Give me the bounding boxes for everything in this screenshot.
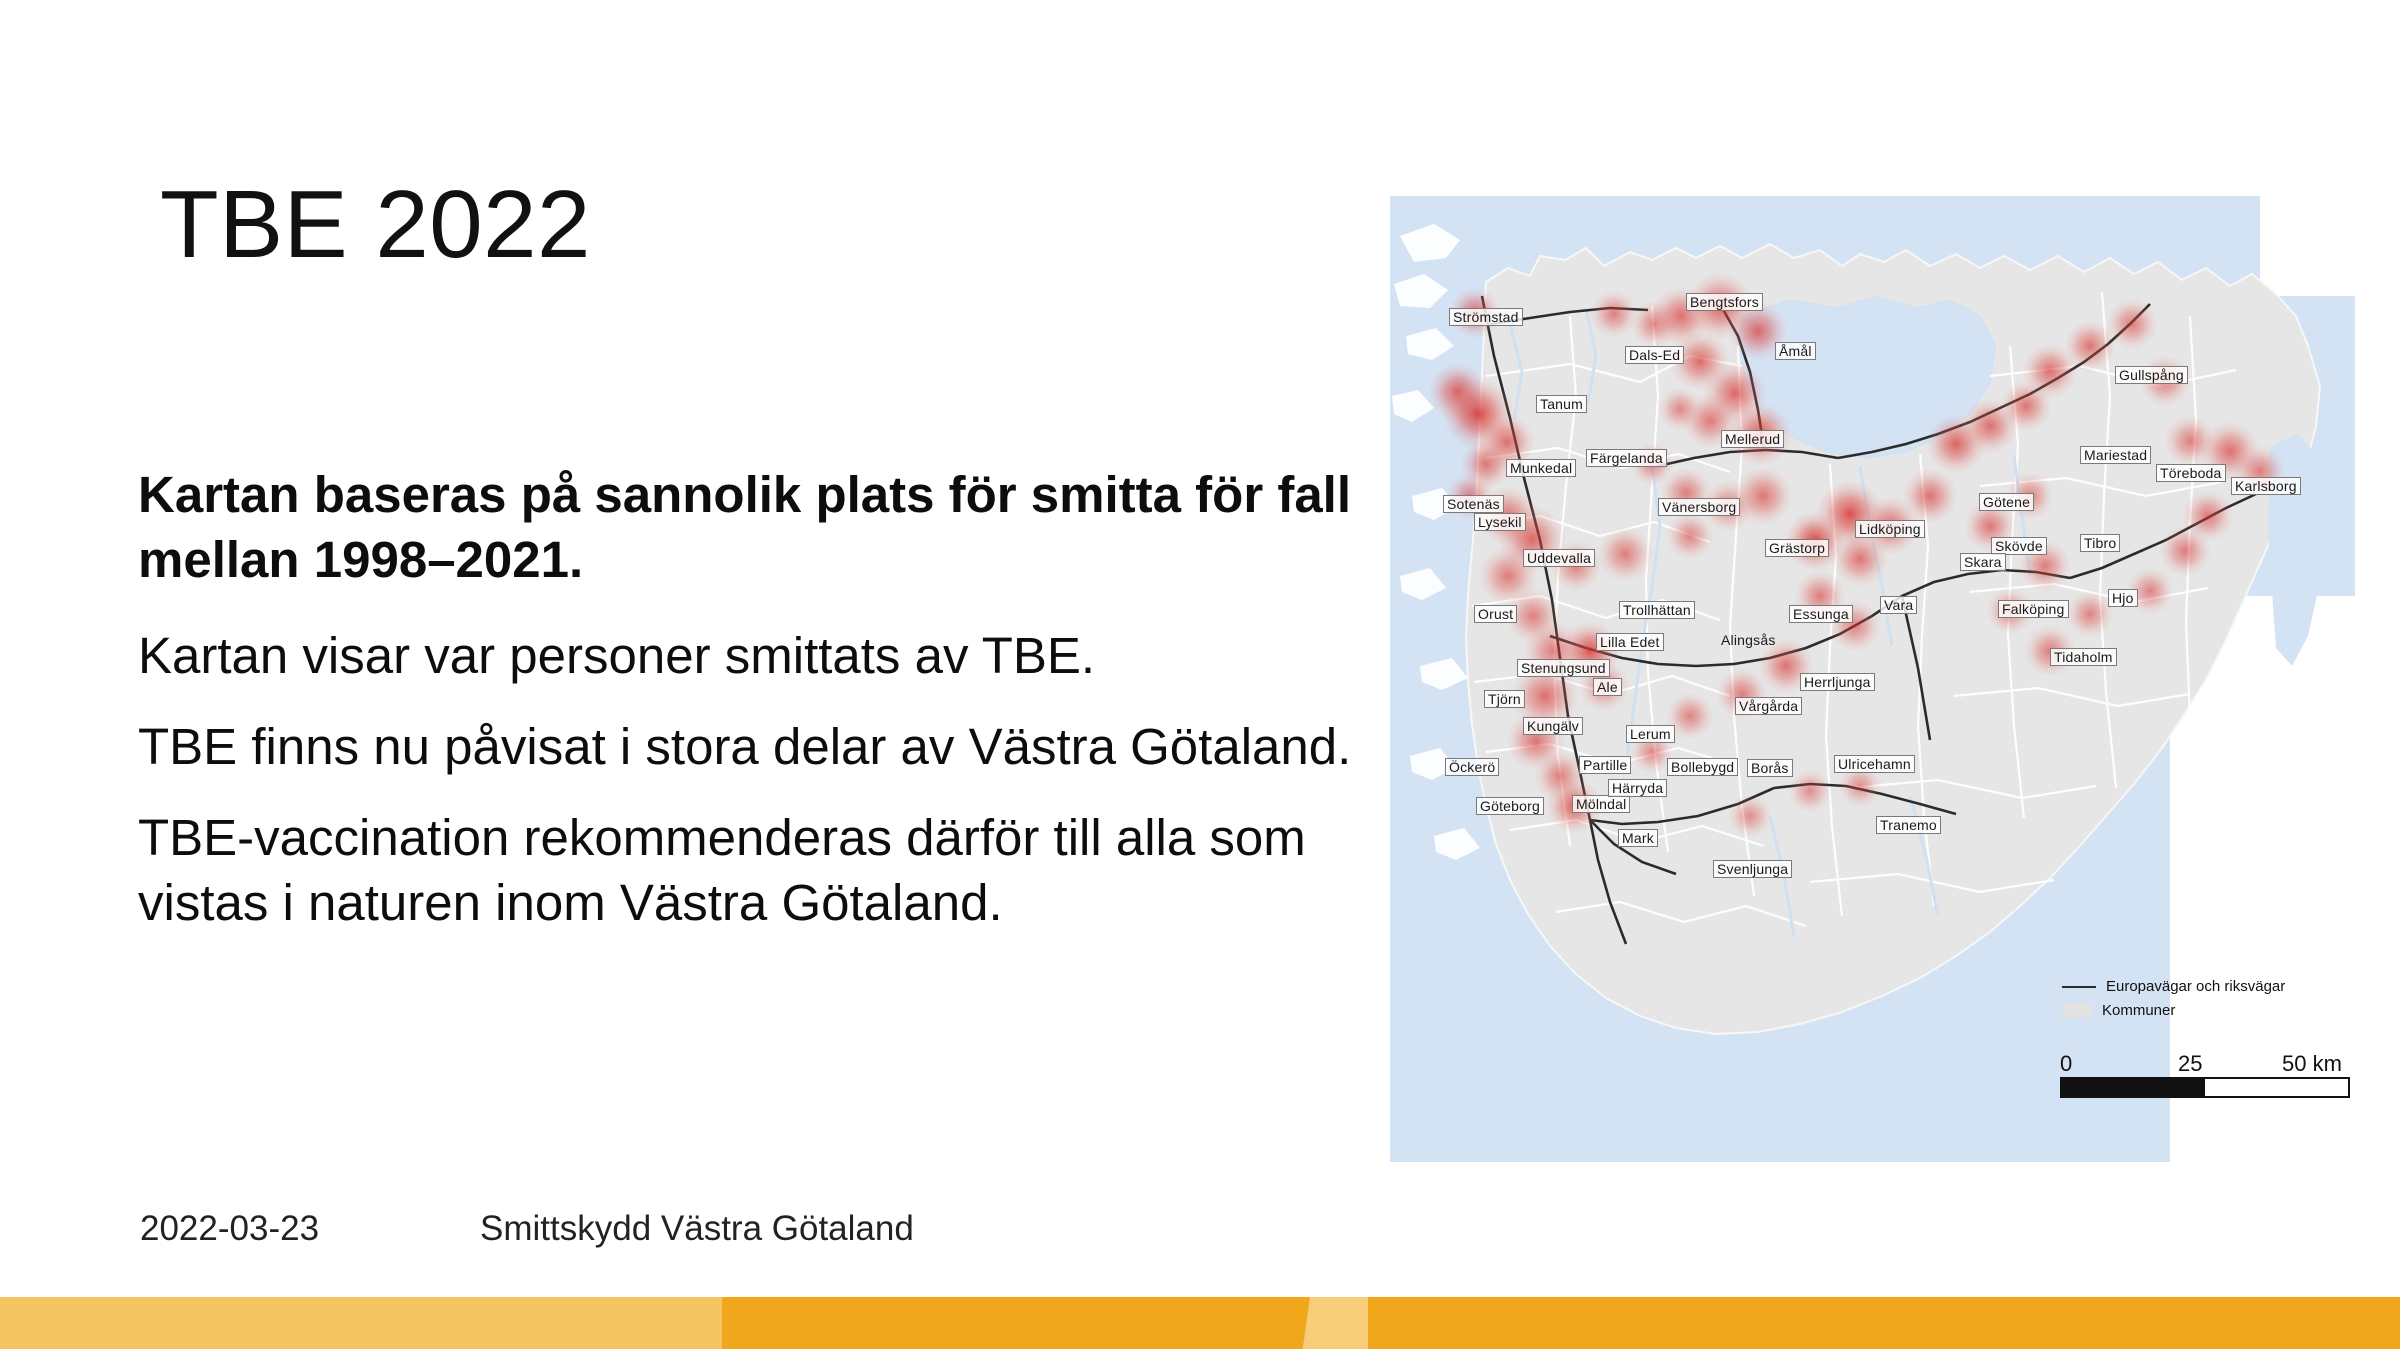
paragraph-3: TBE finns nu påvisat i stora delar av Vä… bbox=[138, 714, 1388, 779]
accent-bar-segment-1 bbox=[0, 1297, 722, 1349]
scale-bar-graphic bbox=[2060, 1077, 2350, 1098]
scale-label-min: 0 bbox=[2060, 1051, 2072, 1077]
scale-segment-2 bbox=[2134, 1079, 2206, 1096]
map-label-gullsp-ng: Gullspång bbox=[2115, 366, 2188, 384]
map-label-lilla-edet: Lilla Edet bbox=[1596, 633, 1664, 651]
map-label-tranemo: Tranemo bbox=[1876, 816, 1941, 834]
legend-row-roads: Europavägar och riksvägar bbox=[2062, 978, 2352, 995]
scale-segment-1 bbox=[2062, 1079, 2134, 1096]
map-label-tibro: Tibro bbox=[2080, 534, 2120, 552]
map-label--m-l: Åmål bbox=[1775, 342, 1816, 360]
bottom-accent-bar bbox=[0, 1297, 2400, 1349]
body-text-block: Kartan baseras på sannolik plats för smi… bbox=[138, 462, 1388, 962]
map-label-lerum: Lerum bbox=[1626, 725, 1675, 743]
map-label-trollh-ttan: Trollhättan bbox=[1619, 601, 1695, 619]
map-label-v-rg-rda: Vårgårda bbox=[1735, 697, 1802, 715]
heat-blob bbox=[1728, 794, 1772, 838]
map-label-mark: Mark bbox=[1618, 829, 1658, 847]
legend-row-municipalities: Kommuner bbox=[2062, 1002, 2352, 1019]
map-label-alings-s: Alingsås bbox=[1718, 632, 1779, 648]
heat-blob bbox=[1788, 769, 1832, 813]
municipality-swatch-icon bbox=[2062, 1003, 2092, 1018]
heat-blob bbox=[2159, 525, 2211, 577]
map-label-tanum: Tanum bbox=[1536, 395, 1587, 413]
scale-segment-4 bbox=[2277, 1079, 2349, 1096]
heat-blob bbox=[2066, 590, 2114, 638]
map-label-herrljunga: Herrljunga bbox=[1800, 673, 1875, 691]
paragraph-4: TBE-vaccination rekommenderas därför til… bbox=[138, 805, 1388, 936]
map-label-lysekil: Lysekil bbox=[1474, 513, 1526, 531]
map-label-munkedal: Munkedal bbox=[1506, 459, 1576, 477]
paragraph-2: Kartan visar var personer smittats av TB… bbox=[138, 623, 1388, 688]
tbe-incidence-map: StrömstadBengtsforsDals-EdÅmålGullspångT… bbox=[1390, 196, 2355, 1162]
map-label-m-lndal: Mölndal bbox=[1572, 795, 1630, 813]
map-label-partille: Partille bbox=[1579, 756, 1631, 774]
map-label-ale: Ale bbox=[1593, 678, 1622, 696]
footer-date: 2022-03-23 bbox=[140, 1209, 319, 1249]
map-label-g-tene: Götene bbox=[1979, 493, 2034, 511]
map-label-kung-lv: Kungälv bbox=[1523, 717, 1583, 735]
heat-blob bbox=[2106, 298, 2158, 350]
heat-blob bbox=[1658, 387, 1702, 431]
map-label-skara: Skara bbox=[1960, 553, 2006, 571]
scale-segment-3 bbox=[2205, 1079, 2277, 1096]
accent-bar-segment-2 bbox=[722, 1297, 1310, 1349]
map-label-essunga: Essunga bbox=[1789, 605, 1853, 623]
heat-blob bbox=[1902, 468, 1958, 524]
map-label-soten-s: Sotenäs bbox=[1443, 495, 1504, 513]
map-label-h-rryda: Härryda bbox=[1608, 779, 1667, 797]
map-label-orust: Orust bbox=[1474, 605, 1517, 623]
map-label-ulricehamn: Ulricehamn bbox=[1834, 755, 1915, 773]
paragraph-lead: Kartan baseras på sannolik plats för smi… bbox=[138, 462, 1388, 593]
heat-blob bbox=[1832, 531, 1888, 587]
map-label-svenljunga: Svenljunga bbox=[1713, 860, 1792, 878]
scale-numbers: 0 25 50 km bbox=[2060, 1051, 2350, 1077]
map-label-t-reboda: Töreboda bbox=[2156, 464, 2226, 482]
map-label-mariestad: Mariestad bbox=[2080, 446, 2151, 464]
map-label-mellerud: Mellerud bbox=[1721, 430, 1784, 448]
map-label-uddevalla: Uddevalla bbox=[1523, 549, 1595, 567]
legend-municipalities-label: Kommuner bbox=[2102, 1002, 2175, 1019]
page-title: TBE 2022 bbox=[160, 175, 591, 276]
map-label--cker-: Öckerö bbox=[1445, 758, 1499, 776]
map-label-falk-ping: Falköping bbox=[1998, 600, 2069, 618]
map-label-vara: Vara bbox=[1880, 596, 1917, 614]
map-label-tj-rn: Tjörn bbox=[1484, 690, 1525, 708]
heat-blob bbox=[1733, 466, 1793, 526]
accent-bar-segment-4 bbox=[1368, 1297, 2400, 1349]
map-label-f-rgelanda: Färgelanda bbox=[1586, 449, 1667, 467]
map-label-dals-ed: Dals-Ed bbox=[1625, 346, 1684, 364]
road-line-icon bbox=[2062, 986, 2096, 988]
map-label-str-mstad: Strömstad bbox=[1449, 308, 1523, 326]
scale-label-mid: 25 bbox=[2178, 1051, 2202, 1077]
map-label-karlsborg: Karlsborg bbox=[2231, 477, 2301, 495]
heat-blob bbox=[1590, 290, 1638, 338]
map-label-g-teborg: Göteborg bbox=[1476, 797, 1544, 815]
map-label-bengtsfors: Bengtsfors bbox=[1686, 293, 1763, 311]
heat-blob bbox=[1666, 512, 1714, 560]
map-scale-bar: 0 25 50 km bbox=[2060, 1051, 2350, 1098]
map-legend: Europavägar och riksvägar Kommuner bbox=[2062, 978, 2352, 1026]
scale-label-max: 50 km bbox=[2282, 1051, 2342, 1077]
map-label-hjo: Hjo bbox=[2108, 589, 2138, 607]
map-label-gr-storp: Grästorp bbox=[1765, 539, 1829, 557]
map-label-bollebygd: Bollebygd bbox=[1667, 758, 1738, 776]
legend-roads-label: Europavägar och riksvägar bbox=[2106, 978, 2285, 995]
map-label-stenungsund: Stenungsund bbox=[1517, 659, 1610, 677]
heat-blob bbox=[1597, 526, 1653, 582]
map-label-lidk-ping: Lidköping bbox=[1855, 520, 1925, 538]
map-label-v-nersborg: Vänersborg bbox=[1658, 498, 1740, 516]
footer-organization: Smittskydd Västra Götaland bbox=[480, 1209, 914, 1249]
map-label-tidaholm: Tidaholm bbox=[2050, 648, 2117, 666]
map-label-bor-s: Borås bbox=[1747, 759, 1793, 777]
